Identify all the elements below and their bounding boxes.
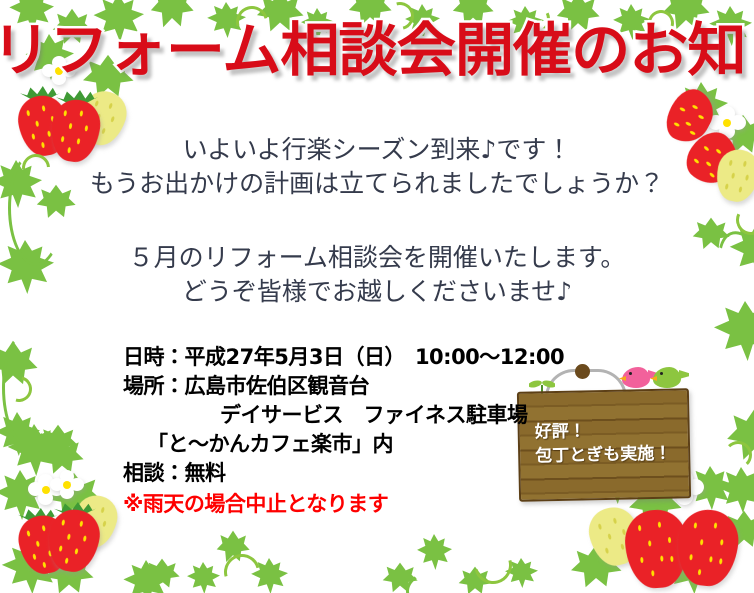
strawberry-icon	[674, 507, 742, 589]
ivy-leaf-icon	[46, 472, 102, 520]
page-title: リフォーム相談会開催のお知らせ	[0, 14, 754, 86]
strawberry-icon	[44, 506, 104, 576]
ivy-leaf-icon	[416, 534, 452, 570]
strawberry-icon	[14, 511, 73, 578]
green-bird-icon	[653, 365, 683, 389]
detail-datetime: 日時：平成27年5月3日（日） 10:00〜12:00	[123, 343, 564, 372]
ivy-leaf-icon	[458, 566, 492, 593]
poster-canvas: リフォーム相談会開催のお知らせ いよいよ行楽シーズン到来♪です！ もうお出かけの…	[0, 0, 754, 593]
ivy-leaf-icon	[570, 544, 622, 590]
detail-fee: 相談：無料	[123, 459, 564, 488]
pink-bird-icon	[622, 365, 652, 389]
bottom-center-vine-decoration	[150, 528, 570, 593]
body-paragraph-2: ５月のリフォーム相談会を開催いたします。 どうぞ皆様でお越しくださいませ♪	[0, 241, 754, 309]
strawberry-flower-icon	[28, 474, 64, 506]
ivy-leaf-icon	[662, 544, 722, 593]
unripe-strawberry-icon	[69, 491, 122, 552]
body-paragraph-1: いよいよ行楽シーズン到来♪です！ もうお出かけの計画は立てられましたでしょうか？	[0, 133, 754, 201]
vine-tendril-icon	[724, 441, 752, 469]
unripe-strawberry-icon	[584, 503, 645, 571]
rain-cancel-notice: ※雨天の場合中止となります	[123, 488, 388, 518]
strawberry-icon	[623, 508, 690, 590]
sign-knob-icon	[575, 364, 590, 379]
detail-place: 場所：広島市佐伯区観音台	[123, 372, 564, 401]
ivy-leaf-icon	[716, 467, 754, 513]
ivy-leaf-icon	[0, 470, 46, 520]
ivy-leaf-icon	[38, 424, 78, 460]
poster-title-block: リフォーム相談会開催のお知らせ	[0, 14, 754, 86]
body-copy: いよいよ行楽シーズン到来♪です！ もうお出かけの計画は立てられましたでしょうか？…	[0, 133, 754, 309]
ivy-leaf-icon	[6, 424, 62, 476]
strawberry-flower-icon	[50, 470, 84, 500]
ivy-leaf-icon	[216, 530, 250, 564]
vine-tendril-icon	[217, 547, 266, 593]
ivy-leaf-icon	[0, 412, 40, 456]
ivy-leaf-icon	[122, 560, 170, 593]
ivy-leaf-icon	[0, 542, 60, 593]
ivy-leaf-icon	[186, 562, 220, 593]
event-details: 日時：平成27年5月3日（日） 10:00〜12:00 場所：広島市佐伯区観音台…	[123, 343, 564, 488]
ivy-leaf-icon	[250, 558, 288, 593]
ivy-leaf-icon	[44, 552, 94, 593]
body-line: いよいよ行楽シーズン到来♪です！	[0, 133, 754, 167]
ivy-leaf-icon	[674, 82, 728, 132]
ivy-leaf-icon	[0, 340, 38, 388]
body-line: どうぞ皆様でお越しくださいませ♪	[0, 275, 754, 309]
strawberry-calyx-icon	[54, 502, 96, 519]
ivy-leaf-icon	[382, 562, 418, 593]
strawberry-calyx-icon	[56, 90, 98, 108]
vine-stem-icon	[406, 568, 482, 593]
body-line: ５月のリフォーム相談会を開催いたします。	[0, 241, 754, 275]
strawberry-calyx-icon	[20, 86, 60, 104]
body-line: もうお出かけの計画は立てられましたでしょうか？	[0, 167, 754, 201]
detail-place-venue: 「と〜かんカフェ楽市」内	[123, 430, 564, 459]
ivy-leaf-icon	[144, 558, 180, 590]
vine-tendril-icon	[1, 371, 37, 407]
vine-stem-icon	[2, 330, 54, 446]
detail-place-sub: デイサービス ファイネス駐車場	[123, 401, 564, 430]
ivy-leaf-icon	[726, 407, 754, 463]
ivy-leaf-icon	[40, 436, 84, 476]
ivy-leaf-icon	[712, 301, 754, 361]
ivy-leaf-icon	[504, 558, 538, 588]
ivy-leaf-icon	[722, 510, 754, 550]
strawberry-calyx-icon	[18, 508, 58, 525]
vine-tendril-icon	[467, 539, 519, 591]
